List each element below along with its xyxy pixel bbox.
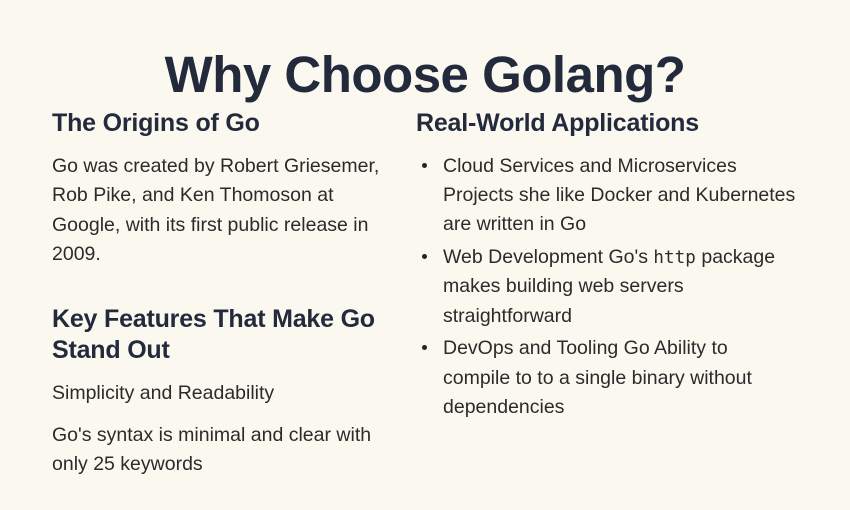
two-column-layout: The Origins of Go Go was created by Robe… xyxy=(0,108,850,480)
list-item-text-before: Web Development Go's xyxy=(443,246,653,268)
bullet-dot-icon xyxy=(422,345,427,350)
bullet-dot-icon xyxy=(422,254,427,259)
key-features-section: Key Features That Make Go Stand Out Simp… xyxy=(52,304,400,480)
origins-paragraph: Go was created by Robert Griesemer, Rob … xyxy=(52,152,400,271)
list-item: DevOps and Tooling Go Ability to compile… xyxy=(416,334,800,422)
list-item: Cloud Services and Microservices Project… xyxy=(416,152,800,240)
right-column: Real-World Applications Cloud Services a… xyxy=(400,108,850,425)
origins-heading: The Origins of Go xyxy=(52,108,400,139)
list-item: Web Development Go's http package makes … xyxy=(416,243,800,331)
list-item-text: Cloud Services and Microservices Project… xyxy=(443,155,795,236)
key-features-heading: Key Features That Make Go Stand Out xyxy=(52,304,400,365)
applications-list: Cloud Services and Microservices Project… xyxy=(416,152,800,423)
left-column: The Origins of Go Go was created by Robe… xyxy=(0,108,400,480)
bullet-dot-icon xyxy=(422,163,427,168)
key-features-paragraph-1: Simplicity and Readability xyxy=(52,379,400,409)
page-title: Why Choose Golang? xyxy=(0,46,850,105)
applications-heading: Real-World Applications xyxy=(416,108,800,139)
origins-section: The Origins of Go Go was created by Robe… xyxy=(52,108,400,270)
http-code-token: http xyxy=(653,248,696,268)
key-features-paragraph-2: Go's syntax is minimal and clear with on… xyxy=(52,421,400,480)
list-item-text: DevOps and Tooling Go Ability to compile… xyxy=(443,337,752,418)
slide-root: Why Choose Golang? The Origins of Go Go … xyxy=(0,0,850,510)
